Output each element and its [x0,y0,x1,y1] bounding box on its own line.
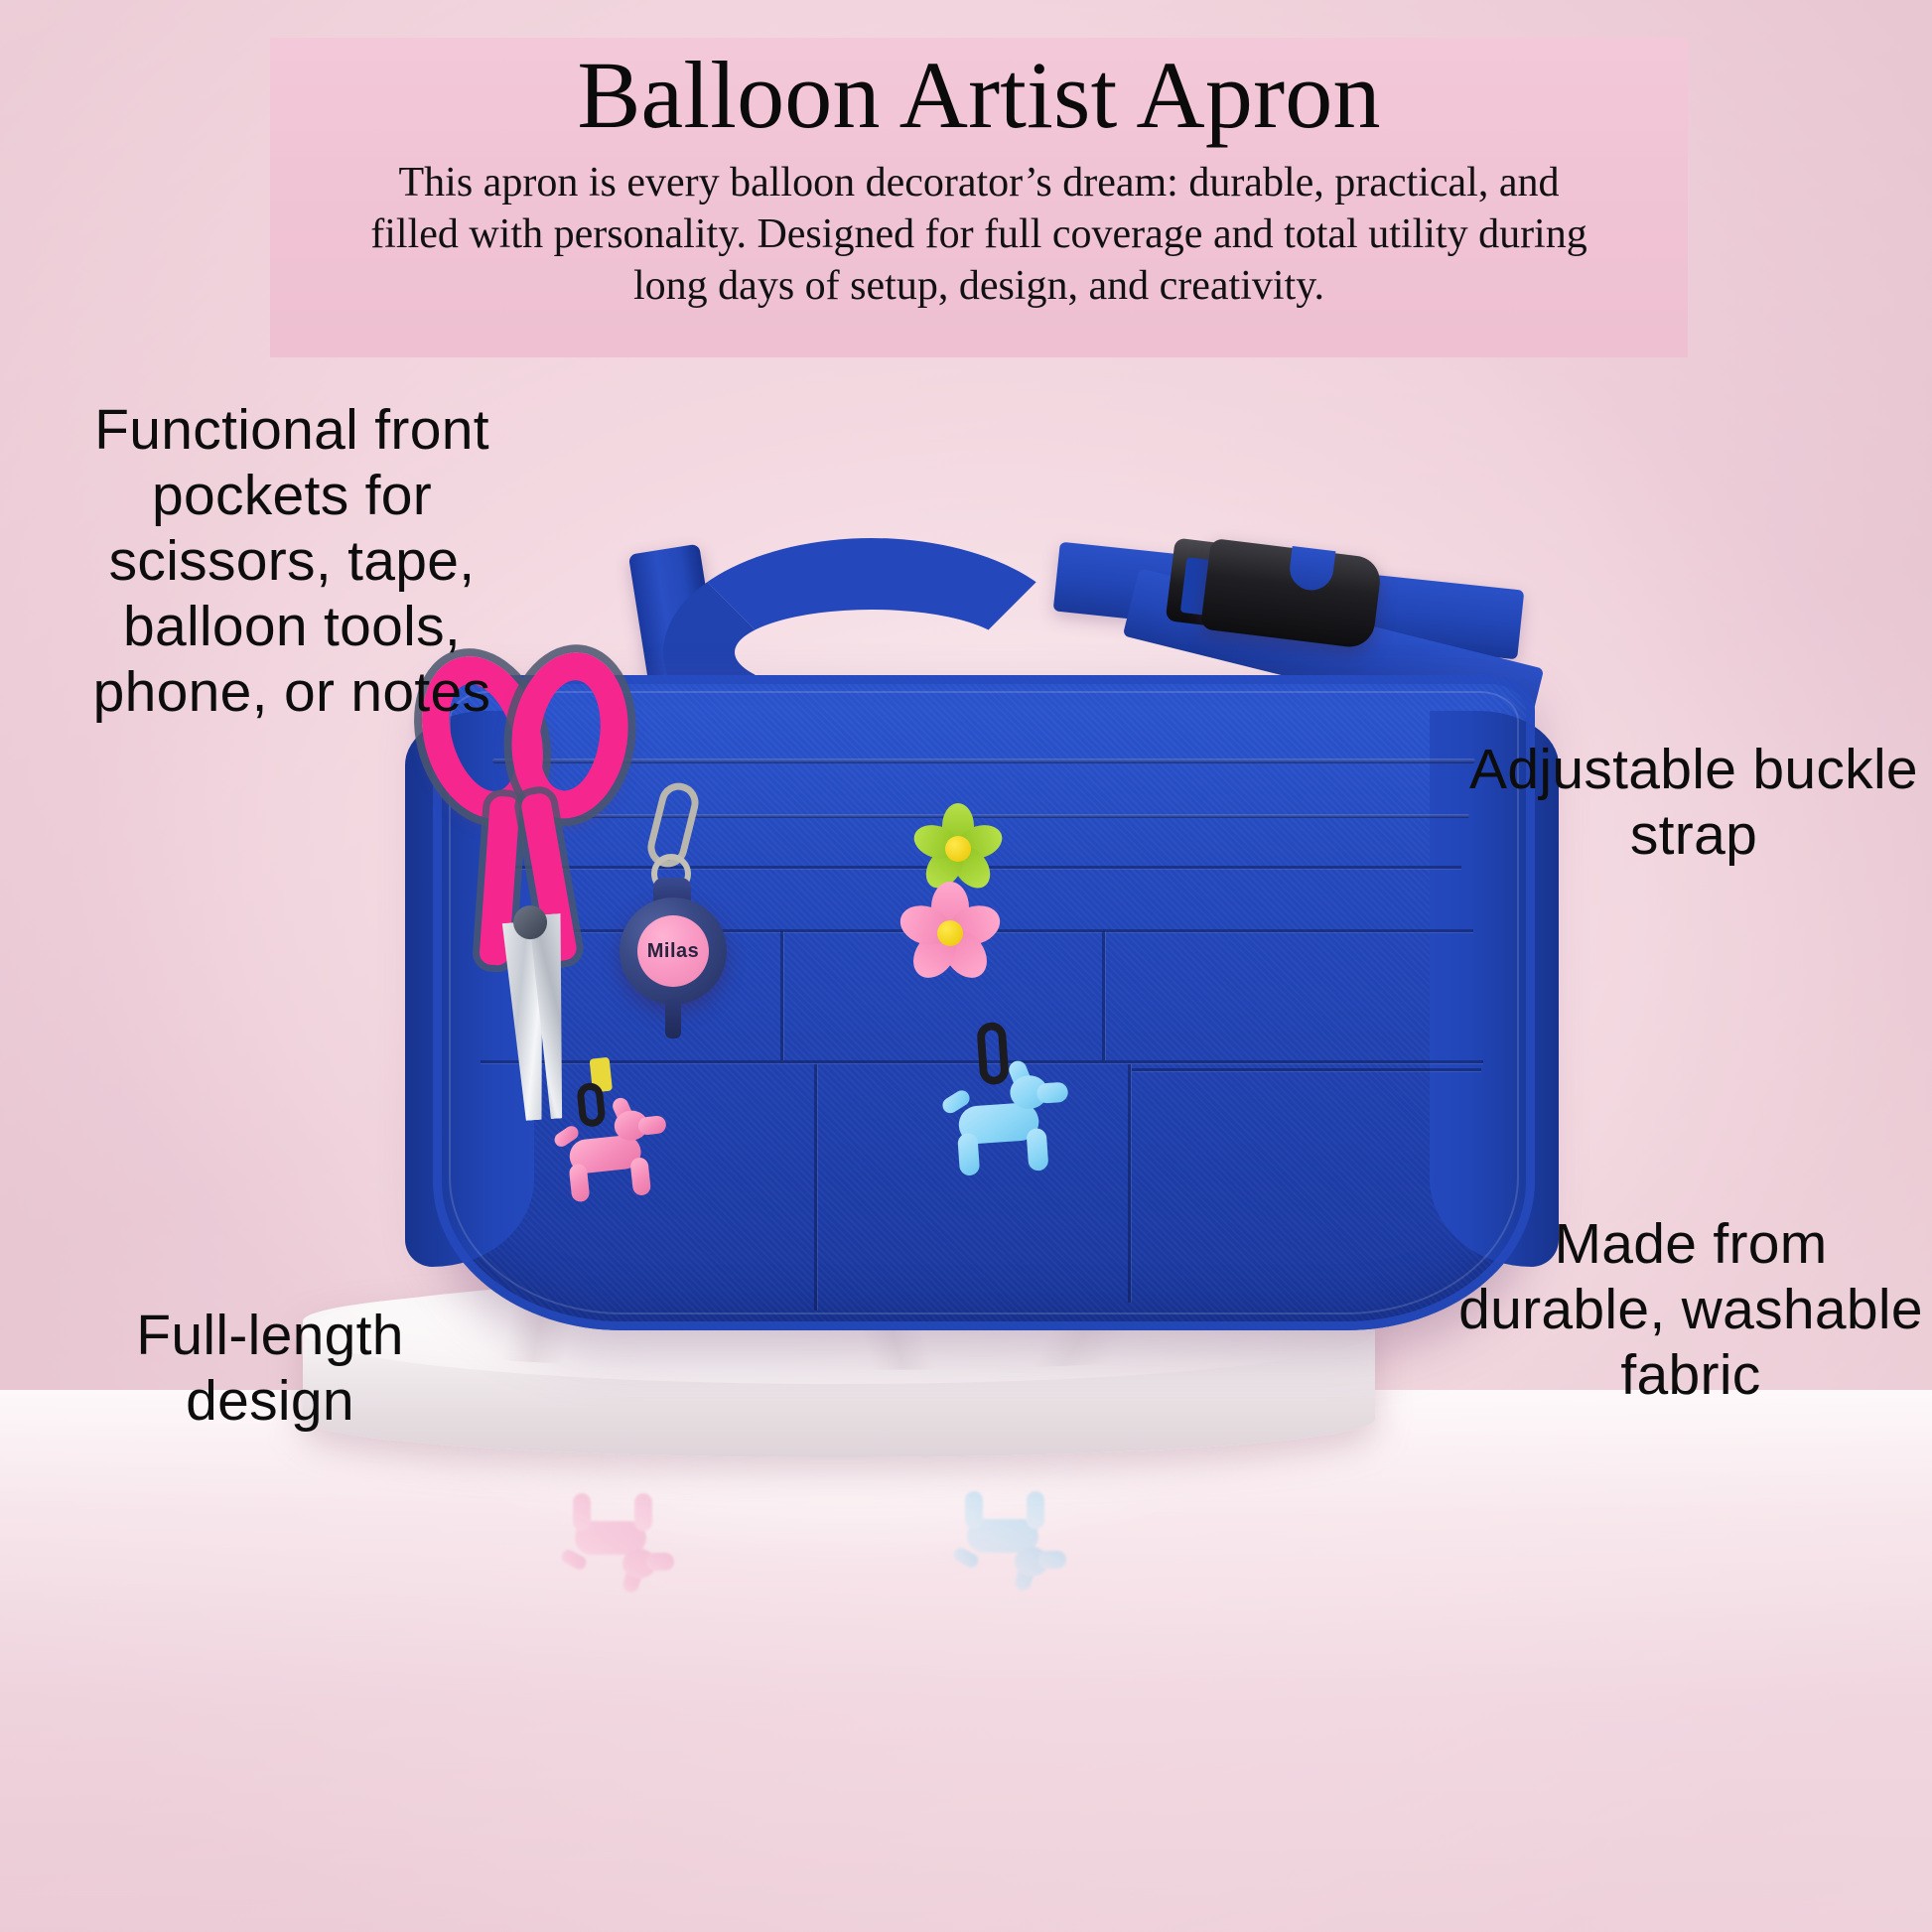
reflection-balloon-dog-blue [953,1459,1102,1587]
dog-front-leg [1027,1491,1044,1529]
dog-front-leg [634,1493,652,1531]
callout-full-length-design: Full-length design [71,1303,469,1434]
page-title: Balloon Artist Apron [324,44,1634,147]
header-banner: Balloon Artist Apron This apron is every… [270,38,1688,357]
callout-durable-washable-fabric: Made from durable, washable fabric [1457,1211,1924,1408]
flower-center [937,920,963,946]
flower-charm-pink-icon [898,882,1002,985]
charm-clip [976,1022,1009,1086]
balloon-dog-charm-pink-icon [551,1096,691,1218]
badge-reel-logo-disc: Milas [637,915,709,987]
page-description: This apron is every balloon decorator’s … [358,157,1599,312]
dog-front-leg [1026,1128,1048,1172]
dog-front-leg [629,1157,651,1196]
product-image-apron: Milas [397,516,1569,1340]
callout-functional-pockets: Functional front pockets for scissors, t… [68,397,516,726]
reflection-balloon-dog-pink [561,1479,690,1588]
infographic-canvas: Milas [0,0,1932,1932]
flower-charm-green-icon [913,804,1003,894]
dog-snout [646,1553,674,1571]
dog-snout [1036,1082,1069,1104]
balloon-dog-charm-blue-icon [939,1059,1116,1213]
dog-snout [637,1115,667,1136]
badge-reel-belt-tab [665,999,681,1038]
callout-adjustable-buckle-strap: Adjustable buckle strap [1469,737,1918,868]
badge-reel-icon: Milas [614,782,729,981]
dog-snout [1038,1551,1066,1569]
brand-label: Milas [647,940,700,963]
flower-center [945,836,971,862]
dog-back-leg [957,1133,980,1176]
dog-back-leg [573,1493,591,1531]
dog-back-leg [965,1491,983,1529]
